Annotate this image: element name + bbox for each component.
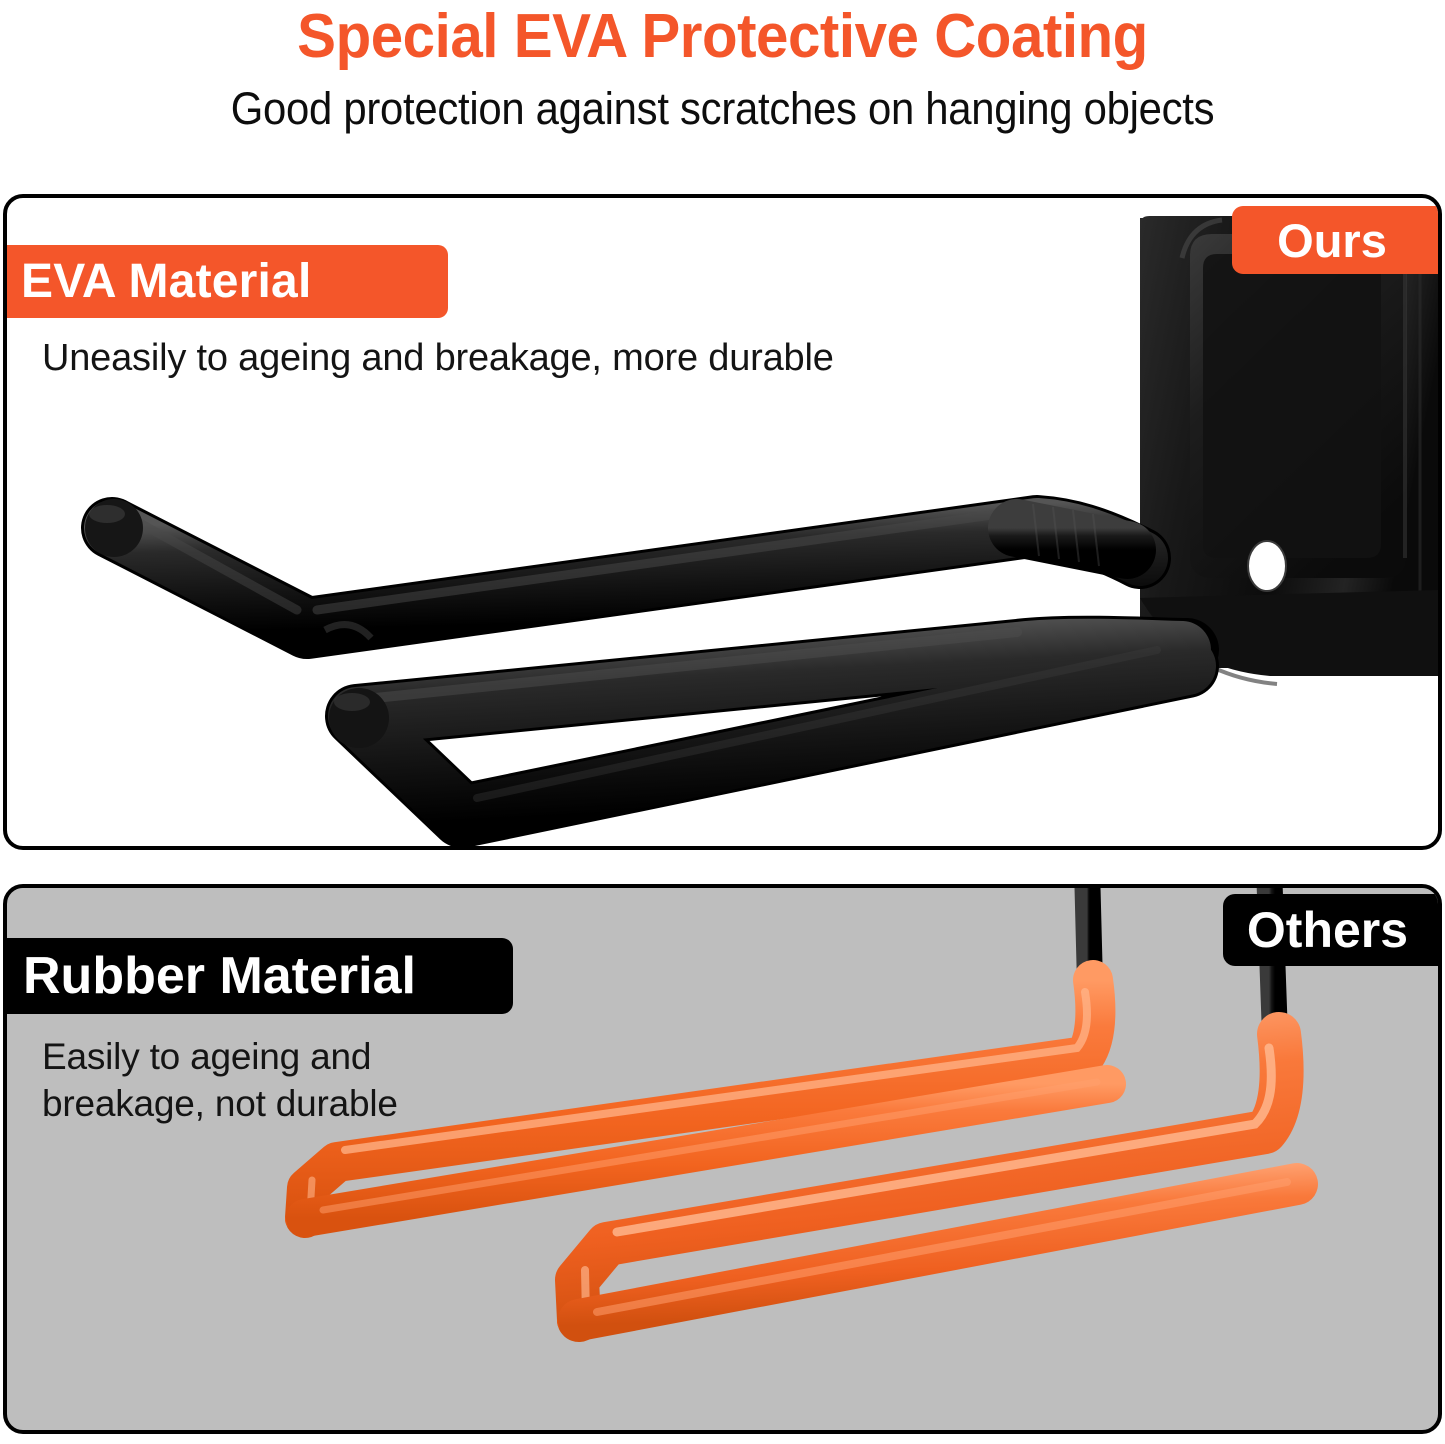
comparison-panel-others: Rubber Material Others Easily to ageing … bbox=[3, 884, 1442, 1434]
material-badge-rubber: Rubber Material bbox=[3, 938, 513, 1014]
comparison-badge-others: Others bbox=[1223, 894, 1442, 966]
comparison-panel-ours: EVA Material Ours Uneasily to ageing and… bbox=[3, 194, 1442, 850]
comparison-badge-ours: Ours bbox=[1232, 206, 1442, 274]
material-badge-eva: EVA Material bbox=[3, 245, 448, 318]
page-title: Special EVA Protective Coating bbox=[43, 2, 1401, 72]
panel-description-others: Easily to ageing and breakage, not durab… bbox=[42, 1033, 462, 1127]
page-subtitle: Good protection against scratches on han… bbox=[51, 82, 1395, 136]
header: Special EVA Protective Coating Good prot… bbox=[0, 0, 1445, 186]
panel-description-ours: Uneasily to ageing and breakage, more du… bbox=[42, 335, 834, 381]
